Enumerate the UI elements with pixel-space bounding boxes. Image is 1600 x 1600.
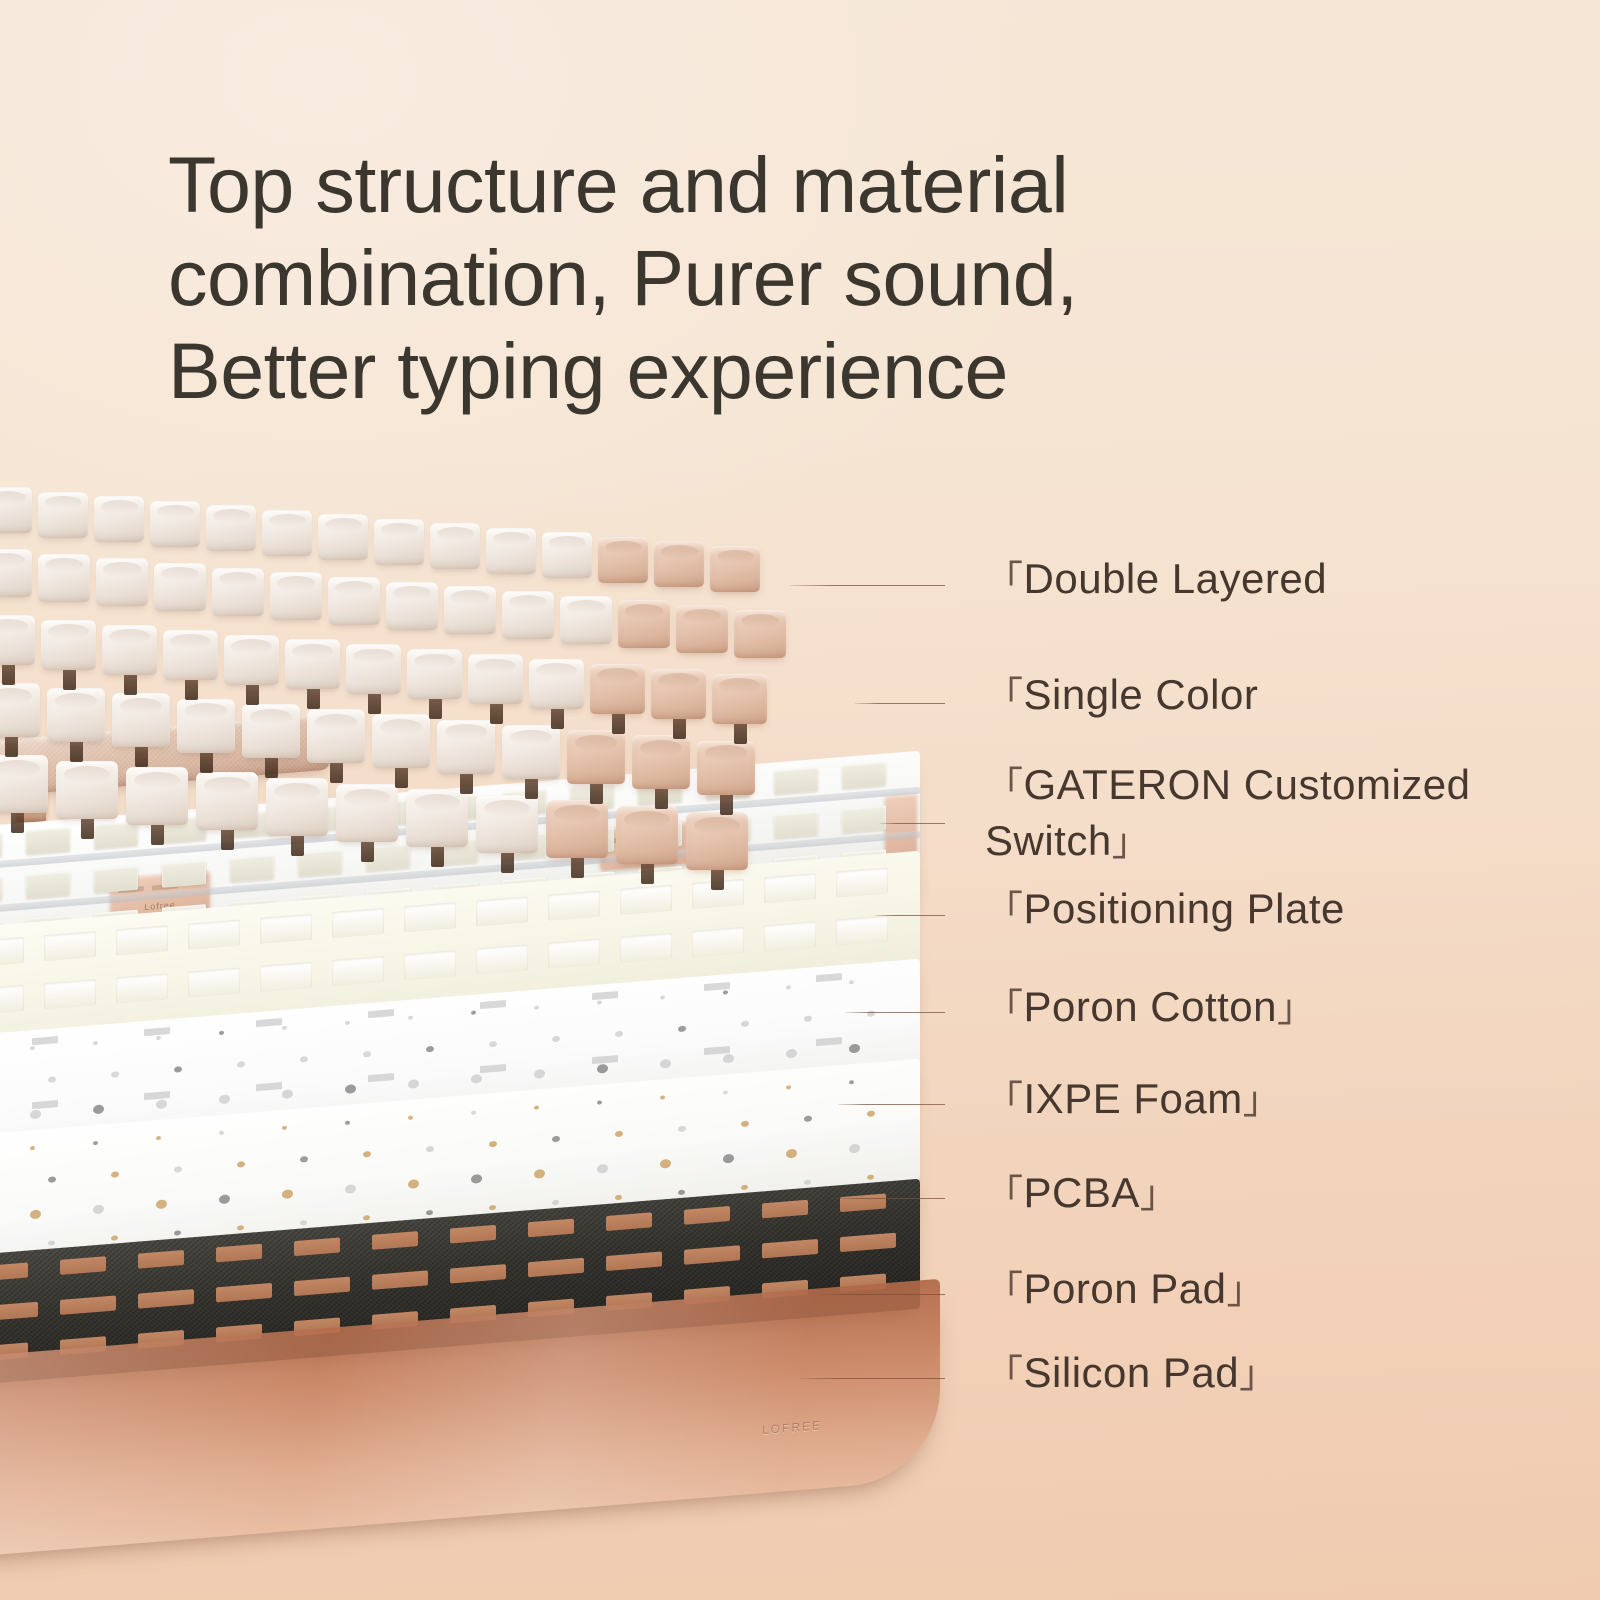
- callout-label-double-layered: 「Double Layered: [985, 552, 1327, 608]
- leader-line-single-color: [855, 703, 945, 704]
- open-bracket: 「: [985, 1080, 1024, 1122]
- pcba-pad: [741, 1120, 749, 1127]
- pcba-pad: [111, 1171, 119, 1178]
- ixpe-slot-mark: [256, 1018, 282, 1027]
- plate-slot: [230, 855, 274, 883]
- plate-slot: [162, 860, 206, 888]
- poron-cutout: [116, 973, 168, 1003]
- ixpe-hole: [723, 990, 728, 994]
- keycap: [476, 795, 538, 853]
- ixpe-hole: [93, 1041, 98, 1045]
- pcba-pad: [489, 1205, 496, 1211]
- ixpe-slot-mark: [144, 1091, 170, 1100]
- close-bracket: 」: [1112, 822, 1151, 864]
- pcba-pad: [723, 1154, 734, 1164]
- plate-slot: [298, 849, 342, 877]
- keycap: [0, 683, 40, 737]
- keycap: [567, 730, 625, 784]
- pcba-pad: [552, 1136, 560, 1143]
- keycap: [336, 784, 398, 842]
- ixpe-hole: [786, 1049, 797, 1059]
- ixpe-hole: [597, 1064, 608, 1074]
- ixpe-hole: [156, 1036, 161, 1040]
- ixpe-hole: [345, 1084, 356, 1094]
- plate-slot: [774, 811, 818, 839]
- leader-line-ixpe-foam: [838, 1104, 945, 1105]
- keycap: [38, 492, 88, 538]
- keycap: [686, 812, 748, 870]
- open-bracket: 「: [985, 676, 1024, 718]
- pcba-pad: [345, 1121, 350, 1125]
- ixpe-slot-mark: [144, 1027, 170, 1036]
- keycap: [430, 523, 480, 569]
- plate-slot: [26, 827, 70, 855]
- keycap: [307, 709, 365, 763]
- keycap: [0, 487, 32, 533]
- ixpe-hole: [408, 1016, 413, 1020]
- keycap: [0, 615, 35, 665]
- callout-label-ixpe-foam: 「IXPE Foam」: [985, 1072, 1281, 1128]
- callout-text: PCBA: [1024, 1169, 1140, 1216]
- keycap: [47, 688, 105, 742]
- callout-label-gateron-switch: 「GATERON Customized Switch」: [985, 758, 1471, 870]
- exploded-keyboard-illustration: Lofree Lofree LOFREE: [0, 480, 920, 1540]
- ixpe-slot-mark: [816, 973, 842, 982]
- keycap: [262, 510, 312, 556]
- leader-line-positioning-plate: [875, 915, 945, 916]
- pcba-pad: [426, 1210, 433, 1216]
- callout-text: Poron Cotton: [1024, 983, 1278, 1030]
- poron-cutout: [44, 979, 96, 1009]
- ixpe-hole: [48, 1076, 56, 1083]
- pcba-pad: [849, 1080, 854, 1084]
- ixpe-hole: [489, 1041, 497, 1048]
- keycap: [632, 735, 690, 789]
- poron-cutout: [44, 931, 96, 961]
- callout-text: GATERON Customized Switch: [985, 761, 1471, 864]
- ixpe-hole: [30, 1046, 35, 1050]
- keycap: [126, 767, 188, 825]
- pcba-pad: [867, 1174, 874, 1180]
- keycap: [444, 586, 496, 634]
- pcba-pad: [660, 1095, 665, 1099]
- keycap: [102, 625, 157, 675]
- callout-label-pcba: 「PCBA」: [985, 1166, 1178, 1222]
- ixpe-hole: [111, 1071, 119, 1078]
- callout-text: Single Color: [1024, 671, 1259, 718]
- keycap: [502, 591, 554, 639]
- pcba-pad: [489, 1141, 497, 1148]
- keycap: [0, 549, 32, 597]
- plate-slot: [26, 871, 70, 899]
- keycap: [154, 563, 206, 611]
- keycap: [406, 789, 468, 847]
- ixpe-hole: [615, 1031, 623, 1038]
- ixpe-hole: [219, 1031, 224, 1035]
- pcba-pad: [723, 1090, 728, 1094]
- ixpe-hole: [471, 1010, 476, 1014]
- poron-cutout: [692, 927, 744, 957]
- pcba-pad: [741, 1185, 748, 1191]
- pcba-pad: [426, 1146, 434, 1153]
- ixpe-hole: [30, 1109, 41, 1119]
- infographic-stage: Top structure and material combination, …: [0, 0, 1600, 1600]
- pcba-pad: [48, 1176, 56, 1183]
- pcba-pad: [174, 1166, 182, 1173]
- ixpe-hole: [219, 1094, 230, 1104]
- plate-slot: [0, 833, 2, 861]
- ixpe-hole: [597, 1000, 602, 1004]
- callout-text: Positioning Plate: [1024, 885, 1345, 932]
- leader-line-poron-cotton: [845, 1012, 945, 1013]
- plate-slot: [94, 822, 138, 850]
- ixpe-hole: [300, 1056, 308, 1063]
- open-bracket: 「: [985, 766, 1024, 808]
- leader-line-pcba: [832, 1198, 945, 1199]
- keycap: [710, 546, 760, 592]
- keycap: [616, 806, 678, 864]
- callout-label-positioning-plate: 「Positioning Plate: [985, 882, 1345, 938]
- ixpe-hole: [849, 980, 854, 984]
- callout-label-single-color: 「Single Color: [985, 668, 1258, 724]
- close-bracket: 」: [1227, 1270, 1266, 1312]
- poron-cutout: [548, 938, 600, 968]
- poron-cutout: [764, 873, 816, 903]
- leader-line-silicon-pad: [800, 1378, 945, 1379]
- ixpe-slot-mark: [592, 1055, 618, 1064]
- pcba-pad: [597, 1100, 602, 1104]
- pcba-pad: [30, 1209, 41, 1219]
- ixpe-slot-mark: [32, 1100, 58, 1109]
- poron-cutout: [620, 885, 672, 915]
- plate-slot: [774, 767, 818, 795]
- poron-cutout: [188, 919, 240, 949]
- ixpe-slot-mark: [32, 1036, 58, 1045]
- ixpe-hole: [408, 1079, 419, 1089]
- keycap: [163, 630, 218, 680]
- pcba-pad: [471, 1174, 482, 1184]
- pcba-pad: [48, 1240, 55, 1246]
- pcba-pad: [219, 1194, 230, 1204]
- plate-slot: [94, 866, 138, 894]
- pcba-pad: [156, 1136, 161, 1140]
- pcba-pad: [804, 1180, 811, 1186]
- keycap: [150, 501, 200, 547]
- poron-cutout: [548, 890, 600, 920]
- ixpe-hole: [426, 1046, 434, 1053]
- open-bracket: 「: [985, 890, 1024, 932]
- ixpe-slot-mark: [480, 1000, 506, 1009]
- pcba-pad: [615, 1131, 623, 1138]
- callout-text: Silicon Pad: [1024, 1349, 1240, 1396]
- pcba-pad: [219, 1131, 224, 1135]
- pcba-pad: [849, 1144, 860, 1154]
- pcba-pad: [660, 1159, 671, 1169]
- pcba-pad: [408, 1116, 413, 1120]
- pcba-pad: [786, 1149, 797, 1159]
- pcba-pad: [408, 1179, 419, 1189]
- pcba-pad: [93, 1141, 98, 1145]
- keycap: [112, 693, 170, 747]
- pcba-pad: [786, 1085, 791, 1089]
- keycap: [212, 568, 264, 616]
- keycap: [654, 541, 704, 587]
- page-title: Top structure and material combination, …: [168, 138, 1348, 417]
- ixpe-slot-mark: [368, 1073, 394, 1082]
- keycap: [94, 496, 144, 542]
- poron-cutout: [476, 896, 528, 926]
- poron-cutout: [260, 914, 312, 944]
- pcba-pad: [300, 1220, 307, 1226]
- callout-text: Double Layered: [1024, 555, 1328, 602]
- open-bracket: 「: [985, 1354, 1024, 1396]
- keycap: [372, 714, 430, 768]
- pcba-pad: [471, 1110, 476, 1114]
- ixpe-slot-mark: [368, 1009, 394, 1018]
- pcba-pad: [534, 1105, 539, 1109]
- keycap: [618, 600, 670, 648]
- ixpe-hole: [660, 1059, 671, 1069]
- poron-cutout: [836, 915, 888, 945]
- poron-cutout: [404, 902, 456, 932]
- keycap: [285, 639, 340, 689]
- ixpe-hole: [174, 1066, 182, 1073]
- ixpe-hole: [678, 1026, 686, 1033]
- close-bracket: 」: [1239, 1354, 1278, 1396]
- pcba-pad: [93, 1204, 104, 1214]
- keycap: [468, 654, 523, 704]
- ixpe-slot-mark: [816, 1037, 842, 1046]
- pcba-pad: [363, 1151, 371, 1158]
- keycap: [38, 554, 90, 602]
- keycap: [734, 610, 786, 658]
- ixpe-hole: [552, 1036, 560, 1043]
- poron-cutout: [188, 967, 240, 997]
- ixpe-hole: [660, 995, 665, 999]
- ixpe-slot-mark: [480, 1064, 506, 1073]
- open-bracket: 「: [985, 1270, 1024, 1312]
- close-bracket: 」: [1277, 988, 1316, 1030]
- pcba-pad: [678, 1126, 686, 1133]
- plate-slot: [842, 805, 886, 833]
- pcba-pad: [237, 1161, 245, 1168]
- pcba-pad: [300, 1156, 308, 1163]
- poron-cutout: [404, 950, 456, 980]
- pcba-pad: [552, 1200, 559, 1206]
- pcba-pad: [345, 1184, 356, 1194]
- keycap: [318, 514, 368, 560]
- ixpe-slot-mark: [256, 1082, 282, 1091]
- keycap: [346, 644, 401, 694]
- poron-cutout: [764, 921, 816, 951]
- close-bracket: 」: [1140, 1174, 1179, 1216]
- keycap: [224, 635, 279, 685]
- ixpe-hole: [471, 1074, 482, 1084]
- poron-cutout: [0, 937, 24, 967]
- pcba-pad: [282, 1126, 287, 1130]
- ixpe-hole: [723, 1054, 734, 1064]
- pcba-pad: [363, 1215, 370, 1221]
- callout-label-poron-cotton: 「Poron Cotton」: [985, 980, 1316, 1036]
- keycap: [386, 582, 438, 630]
- ixpe-hole: [282, 1026, 287, 1030]
- keycap: [56, 761, 118, 819]
- leader-line-gateron-switch: [880, 823, 945, 824]
- keycap: [697, 741, 755, 795]
- pcba-pad: [804, 1115, 812, 1122]
- poron-cutout: [116, 925, 168, 955]
- callout-text: Poron Pad: [1024, 1265, 1227, 1312]
- keycap: [486, 528, 536, 574]
- open-bracket: 「: [985, 1174, 1024, 1216]
- keycap: [328, 577, 380, 625]
- keycap: [206, 505, 256, 551]
- keycap: [529, 659, 584, 709]
- keycap: [598, 537, 648, 583]
- keycap: [266, 778, 328, 836]
- callout-label-poron-pad: 「Poron Pad」: [985, 1262, 1265, 1318]
- keycap: [546, 800, 608, 858]
- ixpe-slot-mark: [592, 991, 618, 1000]
- pcba-pad: [156, 1199, 167, 1209]
- pcba-pad: [867, 1110, 875, 1117]
- ixpe-hole: [741, 1020, 749, 1027]
- ixpe-hole: [237, 1061, 245, 1068]
- open-bracket: 「: [985, 988, 1024, 1030]
- pcba-pad: [111, 1235, 118, 1241]
- keycap: [502, 725, 560, 779]
- ixpe-hole: [363, 1051, 371, 1058]
- open-bracket: 「: [985, 560, 1024, 602]
- ixpe-hole: [786, 985, 791, 989]
- keycap: [41, 620, 96, 670]
- pcba-pad: [678, 1190, 685, 1196]
- pcba-pad: [30, 1146, 35, 1150]
- keycap: [542, 532, 592, 578]
- poron-cutout: [332, 956, 384, 986]
- ixpe-hole: [534, 1005, 539, 1009]
- close-bracket: 」: [1243, 1080, 1282, 1122]
- plate-side-tab: [885, 793, 917, 860]
- plate-slot: [0, 877, 2, 905]
- keycap: [177, 699, 235, 753]
- keycap: [651, 669, 706, 719]
- keycap: [590, 664, 645, 714]
- poron-cutout: [260, 962, 312, 992]
- keycap: [676, 605, 728, 653]
- callout-label-silicon-pad: 「Silicon Pad」: [985, 1346, 1278, 1402]
- ixpe-hole: [156, 1099, 167, 1109]
- ixpe-hole: [93, 1104, 104, 1114]
- pcba-pad: [174, 1230, 181, 1236]
- keycap: [96, 558, 148, 606]
- keycap: [242, 704, 300, 758]
- keycap: [407, 649, 462, 699]
- keycap: [270, 572, 322, 620]
- ixpe-hole: [282, 1089, 293, 1099]
- pcba-pad: [282, 1189, 293, 1199]
- callout-text: IXPE Foam: [1024, 1075, 1243, 1122]
- keycap: [374, 519, 424, 565]
- keycap: [437, 720, 495, 774]
- poron-cutout: [0, 985, 24, 1015]
- plate-slot: [842, 761, 886, 789]
- keycap: [196, 772, 258, 830]
- pcba-pad: [597, 1164, 608, 1174]
- keycap: [712, 674, 767, 724]
- poron-cutout: [620, 933, 672, 963]
- ixpe-hole: [849, 1044, 860, 1054]
- keycap: [560, 596, 612, 644]
- ixpe-hole: [804, 1015, 812, 1022]
- pcba-pad: [615, 1195, 622, 1201]
- pcba-pad: [237, 1225, 244, 1231]
- leader-line-poron-pad: [818, 1294, 945, 1295]
- keycap: [0, 755, 48, 813]
- poron-cutout: [836, 867, 888, 897]
- ixpe-hole: [345, 1021, 350, 1025]
- poron-cutout: [476, 944, 528, 974]
- leader-line-double-layered: [790, 585, 945, 586]
- pcba-pad: [534, 1169, 545, 1179]
- ixpe-hole: [534, 1069, 545, 1079]
- poron-cutout: [332, 908, 384, 938]
